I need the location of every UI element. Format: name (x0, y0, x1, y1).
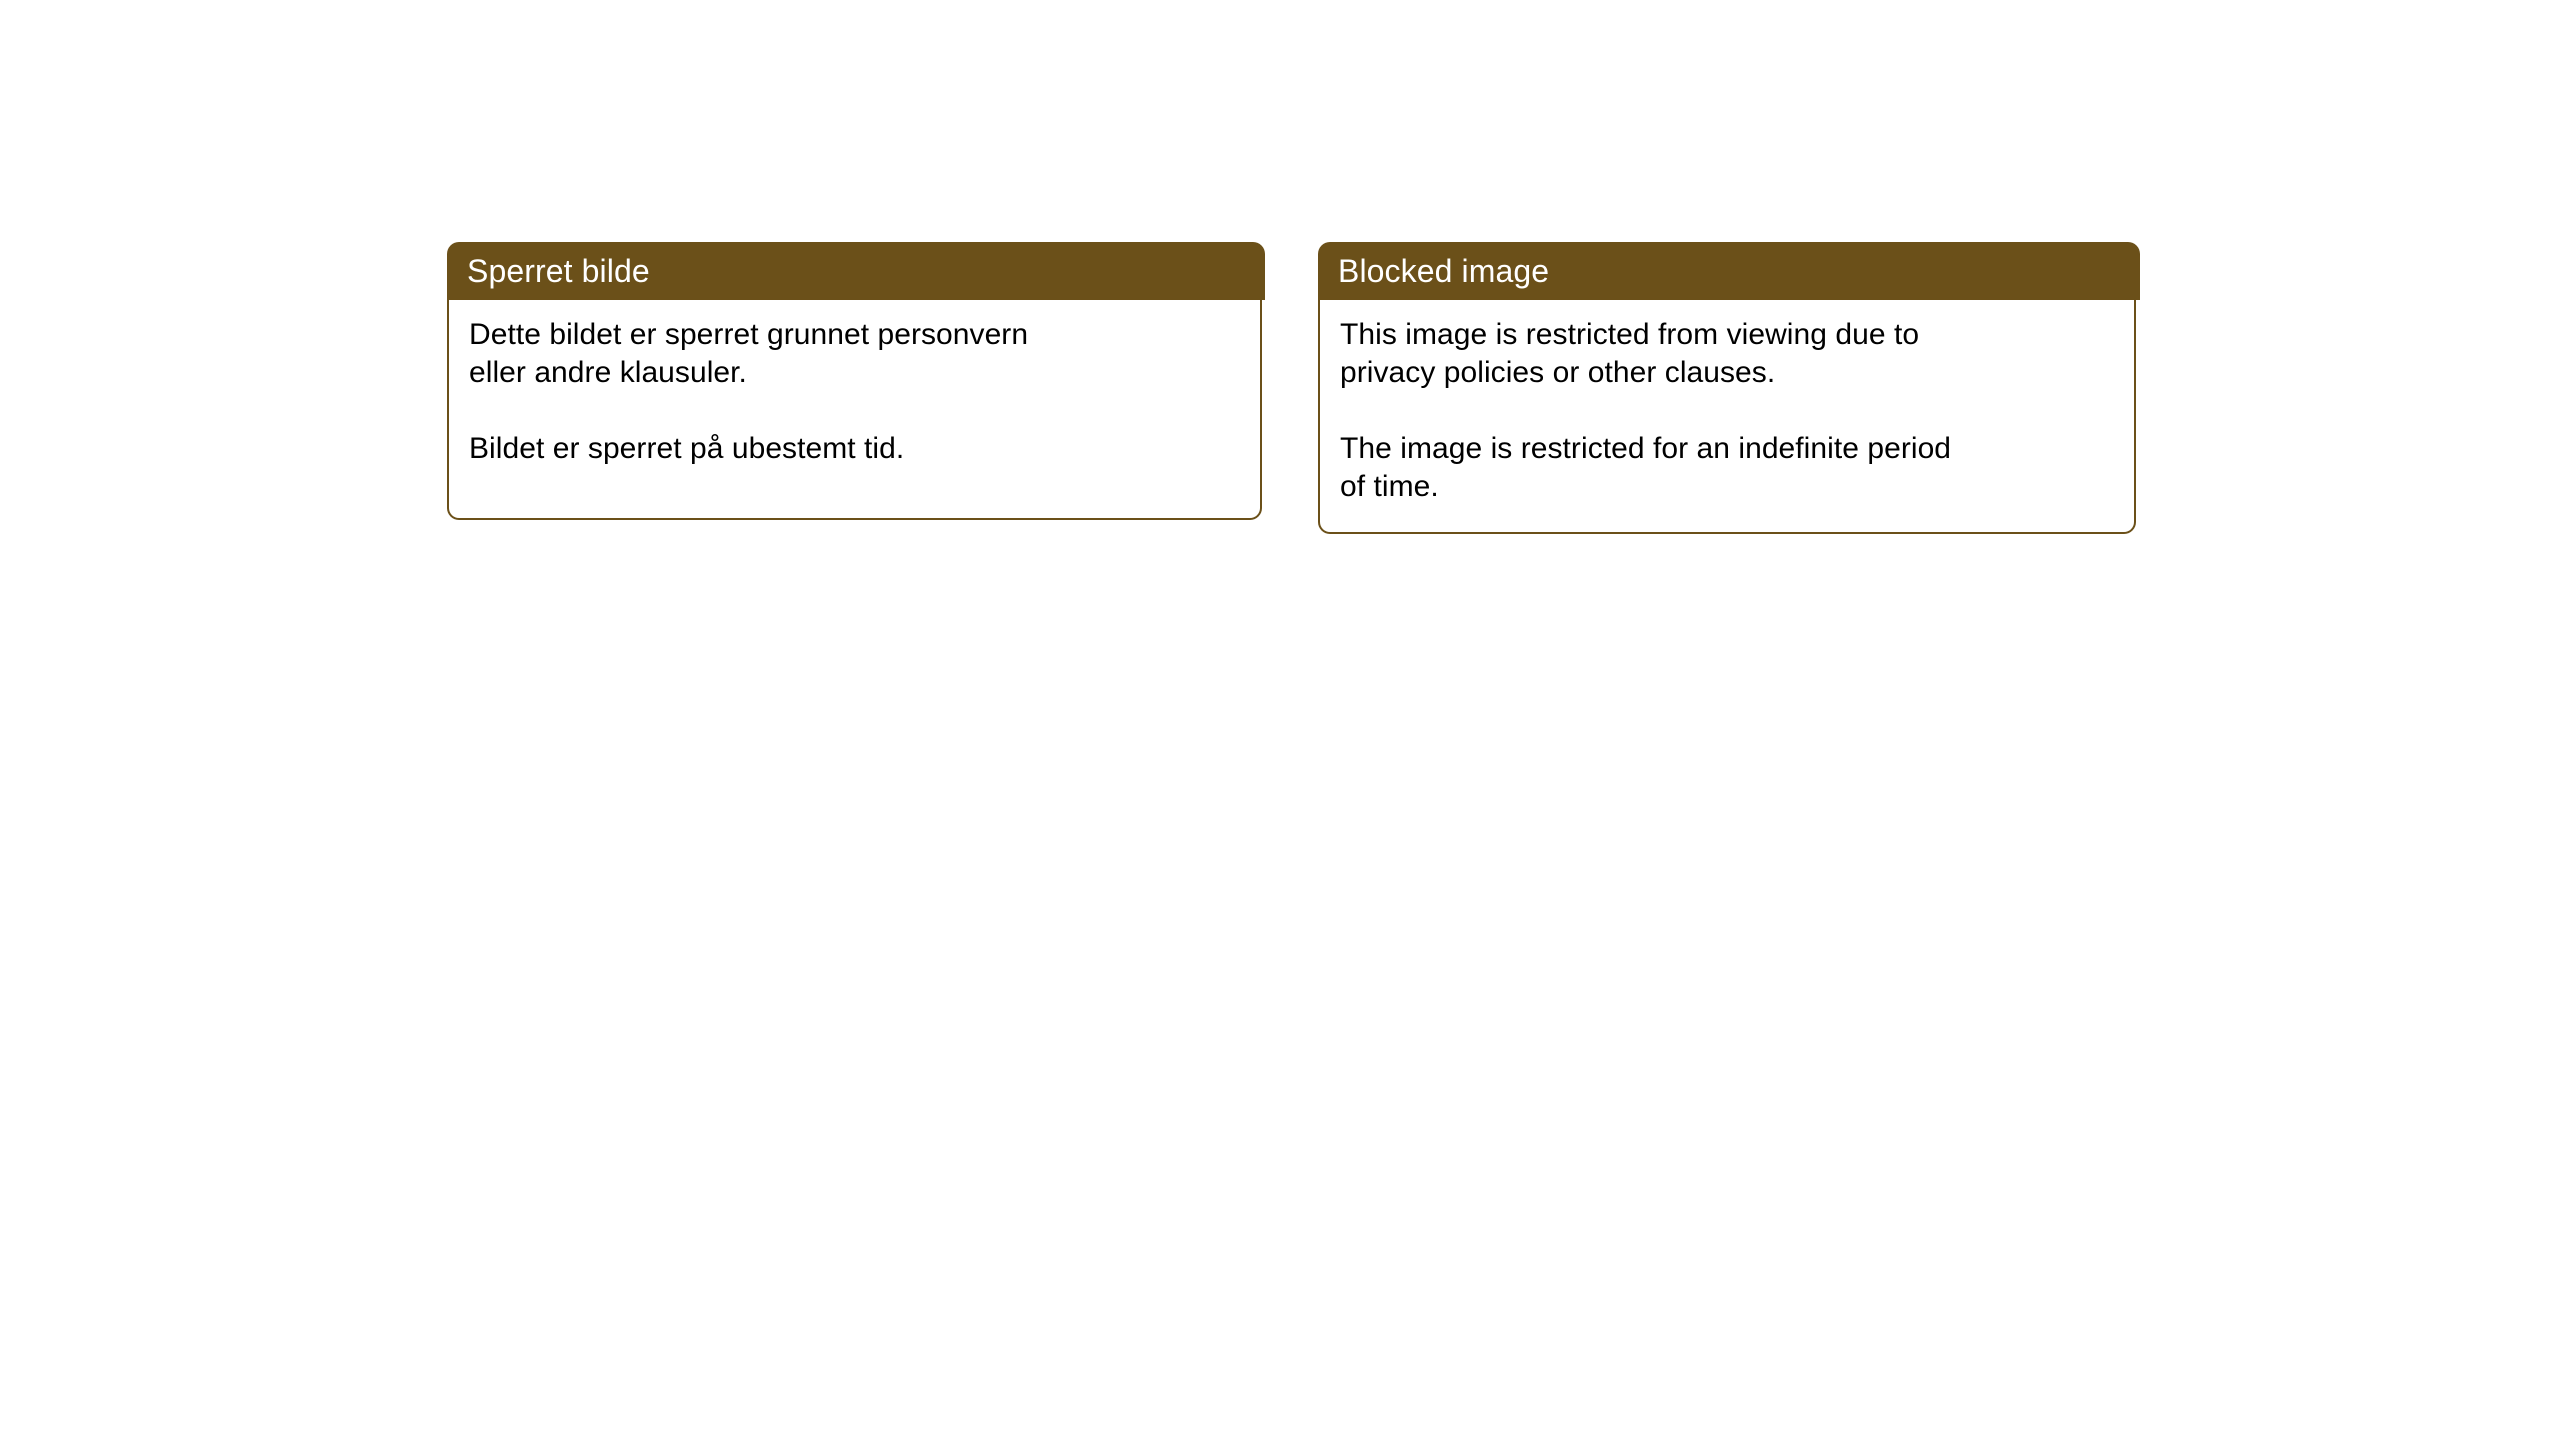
notice-body-english: This image is restricted from viewing du… (1318, 300, 2136, 534)
notice-title-norwegian: Sperret bilde (467, 254, 650, 288)
notice-paragraph-reason-english: This image is restricted from viewing du… (1340, 316, 1970, 392)
notice-title-english: Blocked image (1338, 254, 1549, 288)
notice-header-english: Blocked image (1318, 242, 2140, 300)
page-canvas: Sperret bilde Dette bildet er sperret gr… (0, 0, 2560, 1440)
notice-paragraph-duration-norwegian: Bildet er sperret på ubestemt tid. (469, 430, 1069, 468)
notice-paragraph-duration-english: The image is restricted for an indefinit… (1340, 430, 1970, 506)
notice-paragraph-reason-norwegian: Dette bildet er sperret grunnet personve… (469, 316, 1069, 392)
blocked-image-notice-english: Blocked image This image is restricted f… (1318, 242, 2140, 534)
notice-body-norwegian: Dette bildet er sperret grunnet personve… (447, 300, 1262, 520)
blocked-image-notice-norwegian: Sperret bilde Dette bildet er sperret gr… (447, 242, 1265, 520)
notice-header-norwegian: Sperret bilde (447, 242, 1265, 300)
